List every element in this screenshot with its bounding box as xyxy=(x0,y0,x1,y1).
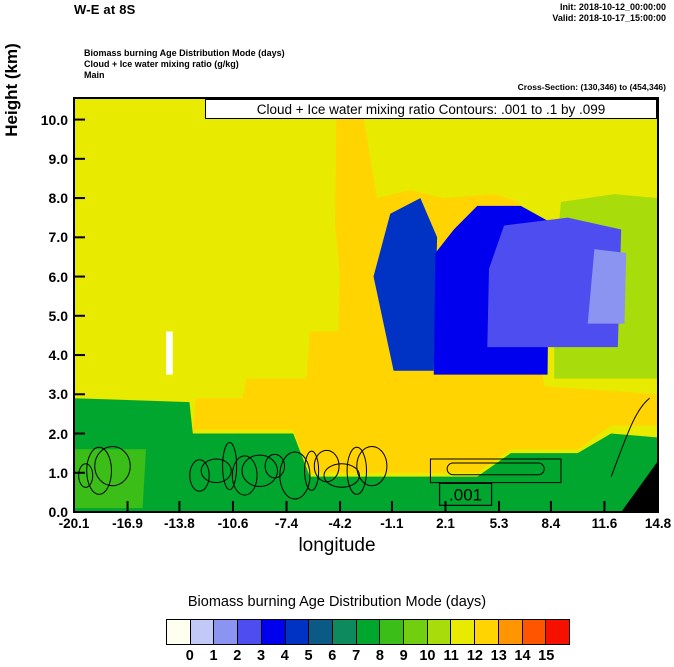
y-tick-label: 3.0 xyxy=(6,386,68,402)
colorbar-swatch-8 xyxy=(357,620,381,644)
colorbar-labels: 0123456789101112131415 xyxy=(166,648,570,666)
cloud-water-contour-envelope xyxy=(430,459,561,483)
colorbar-swatch-6 xyxy=(309,620,333,644)
field-line-3: Main xyxy=(84,70,285,81)
age-region-5d xyxy=(374,198,438,371)
contour-inline-label: .001 xyxy=(449,485,482,504)
y-tick-label: 6.0 xyxy=(6,269,68,285)
colorbar-swatch-16 xyxy=(546,620,569,644)
y-tick-label: 9.0 xyxy=(6,151,68,167)
colorbar-tick-label: 0 xyxy=(186,648,194,664)
colorbar-swatch-13 xyxy=(475,620,499,644)
colorbar-tick-label: 11 xyxy=(444,648,459,664)
age-region-0d xyxy=(166,331,173,374)
colorbar-swatch-9 xyxy=(380,620,404,644)
cloud-water-contour-east xyxy=(611,398,649,476)
cloud-water-contour xyxy=(305,451,319,490)
y-tick-label: 5.0 xyxy=(6,308,68,324)
colorbar-swatch-0 xyxy=(167,620,191,644)
colorbar-tick-label: 3 xyxy=(257,648,265,664)
age-region-11d xyxy=(554,194,658,378)
x-tick-label: 2.1 xyxy=(436,516,455,531)
x-tick-label: 8.4 xyxy=(542,516,561,531)
contour-label-box xyxy=(440,483,492,505)
colorbar-tick-label: 9 xyxy=(400,648,408,664)
x-tick-label: -1.1 xyxy=(380,516,403,531)
colorbar-tick-label: 8 xyxy=(376,648,384,664)
cloud-water-contour xyxy=(357,446,387,485)
colorbar-swatch-7 xyxy=(333,620,357,644)
cloud-water-contour xyxy=(190,460,209,491)
y-tick-label: 10.0 xyxy=(6,112,68,128)
age-region-4d xyxy=(434,206,549,375)
field-line-2: Cloud + Ice water mixing ratio (g/kg) xyxy=(84,59,285,70)
cross-section-coords: Cross-Section: (130,346) to (454,346) xyxy=(518,82,666,92)
y-tick-label: 1.0 xyxy=(6,465,68,481)
y-tick-label: 8.0 xyxy=(6,190,68,206)
colorbar-swatch-15 xyxy=(523,620,547,644)
cloud-water-contour xyxy=(347,447,366,494)
page-title: W-E at 8S xyxy=(74,2,136,17)
x-tick-label: -16.9 xyxy=(112,516,143,531)
y-tick-label: 2.0 xyxy=(6,426,68,442)
valid-time: Valid: 2018-10-17_15:00:00 xyxy=(552,13,666,24)
contour-legend-box: Cloud + Ice water mixing ratio Contours:… xyxy=(205,99,657,119)
x-axis-title: longitude xyxy=(0,535,674,557)
x-tick-label: 5.3 xyxy=(490,516,509,531)
x-tick-label: -7.4 xyxy=(275,516,298,531)
cloud-water-contour xyxy=(201,459,231,483)
colorbar-swatch-4 xyxy=(262,620,286,644)
x-tick-label: 14.8 xyxy=(645,516,671,531)
y-axis-ticks: 0.01.02.03.04.05.06.07.08.09.010.0 xyxy=(0,0,68,667)
colorbar-tick-label: 10 xyxy=(419,648,435,664)
colorbar-tick-label: 5 xyxy=(305,648,313,664)
colorbar-title: Biomass burning Age Distribution Mode (d… xyxy=(0,594,674,610)
cloud-water-contour xyxy=(79,464,93,488)
colorbar-swatch-3 xyxy=(238,620,262,644)
age-region-9d xyxy=(74,449,146,508)
colorbar-tick-label: 15 xyxy=(538,648,554,664)
colorbar-swatch-11 xyxy=(428,620,452,644)
colorbar-tick-label: 7 xyxy=(352,648,360,664)
age-region-3d xyxy=(487,218,621,347)
colorbar-tick-label: 4 xyxy=(281,648,289,664)
run-times: Init: 2018-10-12_00:00:00 Valid: 2018-10… xyxy=(552,2,666,24)
colorbar-swatch-10 xyxy=(404,620,428,644)
colorbar-swatch-2 xyxy=(214,620,238,644)
init-time: Init: 2018-10-12_00:00:00 xyxy=(552,2,666,13)
colorbar-tick-label: 12 xyxy=(467,648,483,664)
age-region-8d xyxy=(74,398,658,512)
cloud-water-contour xyxy=(265,454,284,478)
cloud-water-contour xyxy=(314,450,339,481)
age-region-13d xyxy=(193,98,658,473)
colorbar xyxy=(166,619,570,645)
x-tick-label: 11.6 xyxy=(592,516,618,531)
x-tick-label: -13.8 xyxy=(164,516,195,531)
cloud-water-contour xyxy=(324,464,359,488)
cloud-water-contour xyxy=(242,455,277,486)
y-tick-label: 7.0 xyxy=(6,229,68,245)
colorbar-tick-label: 1 xyxy=(209,648,217,664)
cloud-water-contour xyxy=(232,456,257,495)
colorbar-swatch-12 xyxy=(451,620,475,644)
x-axis-ticks: -20.1-16.9-13.8-10.6-7.4-4.2-1.12.15.38.… xyxy=(0,516,674,536)
x-tick-label: -4.2 xyxy=(328,516,351,531)
colorbar-swatch-14 xyxy=(499,620,523,644)
colorbar-tick-label: 14 xyxy=(514,648,530,664)
cloud-water-contour xyxy=(87,447,112,494)
colorbar-swatch-5 xyxy=(286,620,310,644)
age-region-2d xyxy=(588,249,626,324)
cloud-water-contour xyxy=(223,443,237,490)
colorbar-swatch-1 xyxy=(191,620,215,644)
terrain-mask xyxy=(621,461,658,512)
colorbar-tick-label: 2 xyxy=(233,648,241,664)
field-line-1: Biomass burning Age Distribution Mode (d… xyxy=(84,48,285,59)
cloud-water-contour xyxy=(95,446,130,485)
x-tick-label: -20.1 xyxy=(59,516,90,531)
cloud-water-contour xyxy=(280,452,310,499)
cloud-water-contour-inner xyxy=(447,463,544,475)
x-tick-label: -10.6 xyxy=(218,516,249,531)
colorbar-tick-label: 13 xyxy=(491,648,507,664)
y-tick-label: 4.0 xyxy=(6,347,68,363)
colorbar-tick-label: 6 xyxy=(328,648,336,664)
field-description: Biomass burning Age Distribution Mode (d… xyxy=(84,48,285,81)
age-region-12d xyxy=(74,98,338,398)
